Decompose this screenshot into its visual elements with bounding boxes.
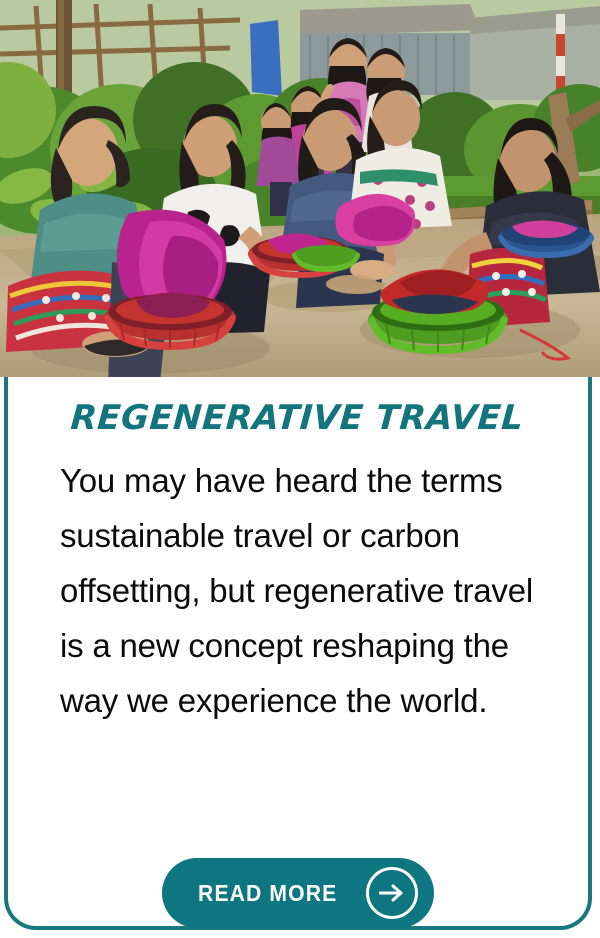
read-more-label: READ MORE [198,880,337,907]
article-card: REGENERATIVE TRAVEL You may have heard t… [0,0,600,938]
article-photo [0,0,600,377]
read-more-button[interactable]: READ MORE [162,858,433,928]
arrow-right-circle-icon [366,867,418,919]
article-body-text: You may have heard the terms sustainable… [8,435,588,728]
cta-row: READ MORE [8,858,588,928]
article-text-card: REGENERATIVE TRAVEL You may have heard t… [4,377,592,930]
page-title: REGENERATIVE TRAVEL [6,377,590,435]
